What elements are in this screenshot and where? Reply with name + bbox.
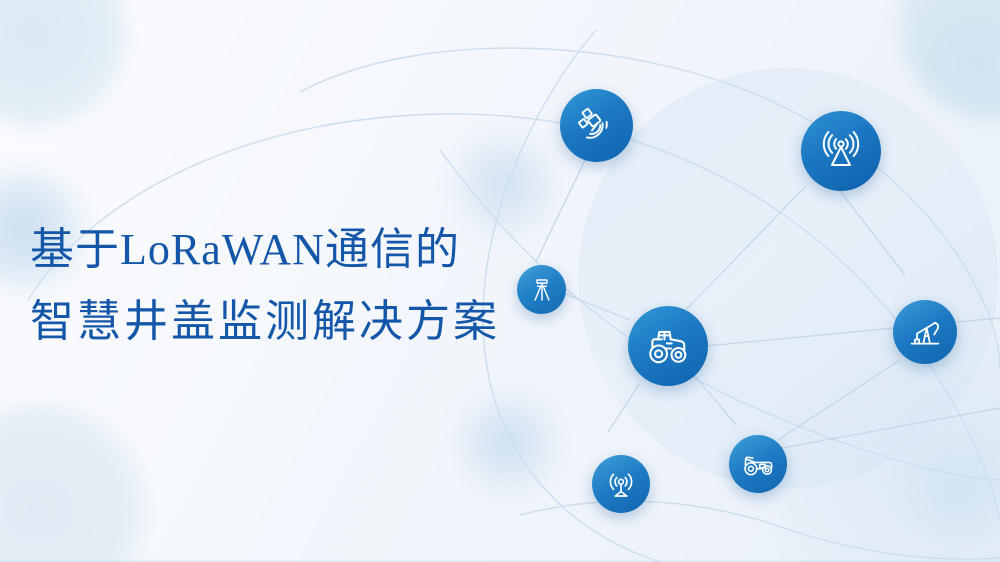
title-block: 基于LoRaWAN通信的 智慧井盖监测解决方案: [30, 228, 550, 344]
node-antenna-tower[interactable]: [801, 111, 881, 191]
background-wash-bottom-right: [780, 330, 1000, 562]
satellite-dish-icon: [575, 104, 619, 148]
background-blob-top-right: [900, 0, 1000, 120]
network-sphere: [578, 68, 998, 488]
node-oil-pumpjack[interactable]: [893, 300, 957, 364]
signal-beacon-icon: [603, 466, 639, 502]
tractor-icon: [643, 321, 693, 371]
background-blob-bottom-right: [905, 435, 1000, 545]
connector-antenna-tractor: [676, 186, 806, 320]
connector-antenna-pumpjack: [836, 186, 905, 275]
background-blob-center-upper: [450, 130, 560, 240]
node-tractor[interactable]: [628, 306, 708, 386]
radio-tower-icon: [817, 127, 865, 175]
connector-tractor-beacon: [608, 383, 640, 432]
connector-tractor-harvester: [690, 370, 736, 425]
harvester-icon: [739, 445, 777, 483]
title-line-2: 智慧井盖监测解决方案: [30, 300, 550, 344]
node-satellite[interactable]: [560, 89, 633, 162]
node-harvester[interactable]: [729, 435, 787, 493]
cover-slide: 基于LoRaWAN通信的 智慧井盖监测解决方案: [0, 0, 1000, 562]
connector-harvester-pumpjack: [778, 360, 900, 440]
background-blob-center-lower: [455, 390, 560, 495]
connector-harvester-right-edge: [782, 408, 1000, 448]
connector-tripod-tractor: [560, 292, 630, 320]
title-line-1: 基于LoRaWAN通信的: [30, 228, 550, 272]
background-blob-top-left: [0, 0, 134, 134]
oil-pumpjack-icon: [905, 312, 945, 352]
orbit-arc-5: [520, 501, 1000, 559]
background-blob-bottom-left: [0, 400, 148, 562]
node-signal-beacon[interactable]: [592, 455, 650, 513]
